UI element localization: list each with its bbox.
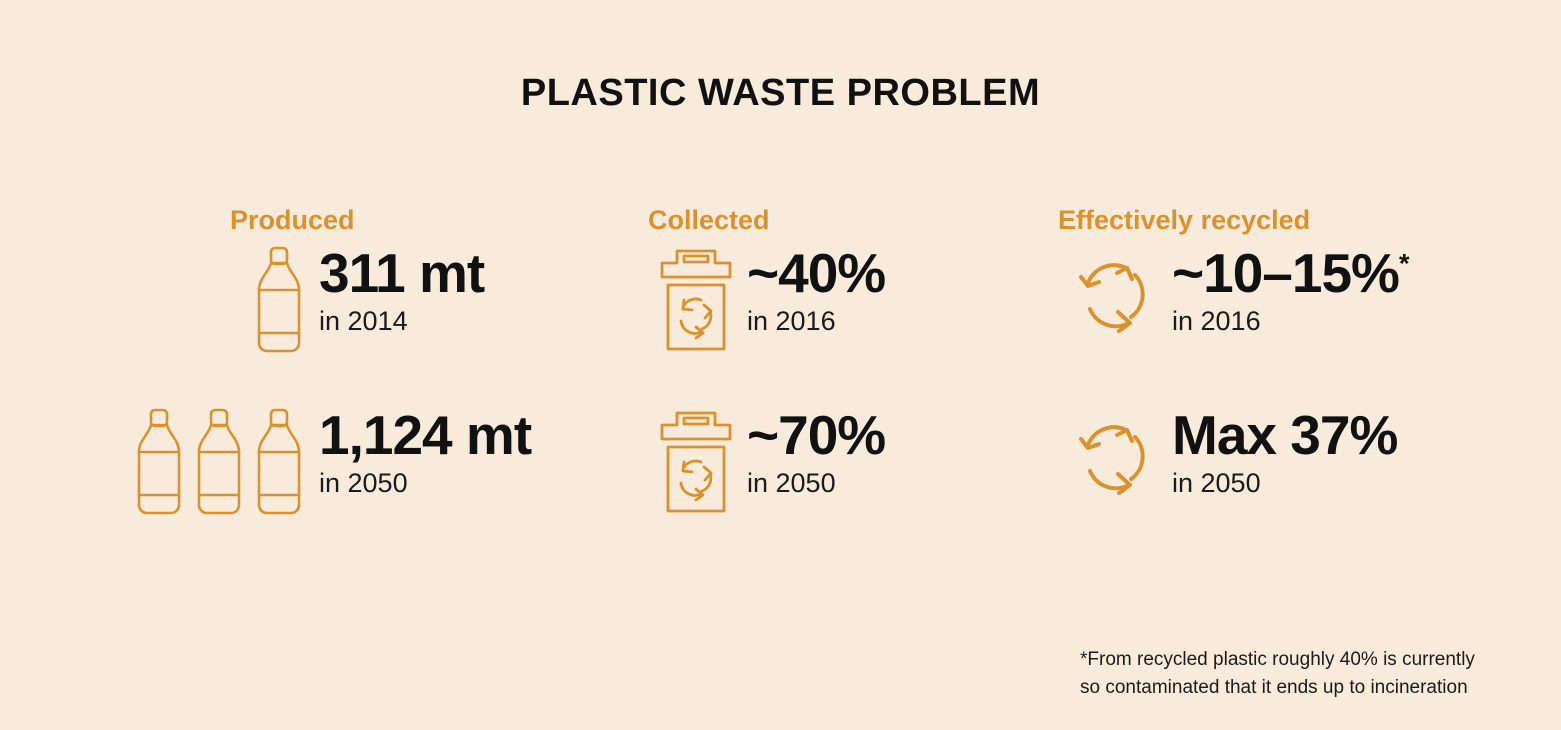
stat-row-collected-2050: ~70% in 2050 xyxy=(648,407,1008,557)
infographic-canvas: PLASTIC WASTE PROBLEM Produced 311 mt in… xyxy=(0,0,1561,730)
stat-row-produced-2014: 311 mt in 2014 xyxy=(130,245,530,395)
stat-text-produced-2050: 1,124 mt in 2050 xyxy=(319,407,531,501)
stat-value: 311 mt xyxy=(319,247,484,301)
stat-period: in 2050 xyxy=(1172,465,1397,501)
stat-text-collected-2016: ~40% in 2016 xyxy=(747,245,885,339)
stat-period: in 2050 xyxy=(747,465,885,501)
footnote-marker: * xyxy=(1399,249,1410,279)
stat-text-produced-2014: 311 mt in 2014 xyxy=(319,245,484,339)
stat-text-collected-2050: ~70% in 2050 xyxy=(747,407,885,501)
stat-row-produced-2050: 1,124 mt in 2050 xyxy=(130,407,530,557)
stat-period: in 2050 xyxy=(319,465,531,501)
stat-period: in 2014 xyxy=(319,303,484,339)
stat-value: ~70% xyxy=(747,409,885,463)
stat-period: in 2016 xyxy=(747,303,885,339)
stat-row-collected-2016: ~40% in 2016 xyxy=(648,245,1008,395)
stat-value: 1,124 mt xyxy=(319,409,531,463)
recycling-bin-icon xyxy=(648,407,733,515)
recycling-arrows-icon xyxy=(1058,245,1158,345)
page-title: PLASTIC WASTE PROBLEM xyxy=(0,72,1561,115)
column-header-collected: Collected xyxy=(648,205,1008,245)
stat-text-recycled-2050: Max 37% in 2050 xyxy=(1172,407,1397,501)
plastic-bottle-icon-group xyxy=(130,407,305,517)
stat-text-recycled-2016: ~10–15%* in 2016 xyxy=(1172,245,1409,339)
stat-value-text: ~10–15% xyxy=(1172,242,1399,304)
stat-row-recycled-2016: ~10–15%* in 2016 xyxy=(1058,245,1478,395)
plastic-bottle-icon xyxy=(130,245,305,355)
footnote: *From recycled plastic roughly 40% is cu… xyxy=(1080,646,1475,701)
stat-value: ~10–15%* xyxy=(1172,247,1409,301)
stat-value: Max 37% xyxy=(1172,409,1397,463)
stat-period: in 2016 xyxy=(1172,303,1409,339)
recycling-arrows-icon xyxy=(1058,407,1158,507)
column-header-produced: Produced xyxy=(230,205,530,245)
column-collected: Collected xyxy=(648,205,1008,557)
stat-row-recycled-2050: Max 37% in 2050 xyxy=(1058,407,1478,557)
column-recycled: Effectively recycled ~10–15%* in 2016 xyxy=(1058,205,1478,557)
column-produced: Produced 311 mt in 2014 xyxy=(130,205,530,557)
stat-value: ~40% xyxy=(747,247,885,301)
recycling-bin-icon xyxy=(648,245,733,353)
column-header-recycled: Effectively recycled xyxy=(1058,205,1478,245)
